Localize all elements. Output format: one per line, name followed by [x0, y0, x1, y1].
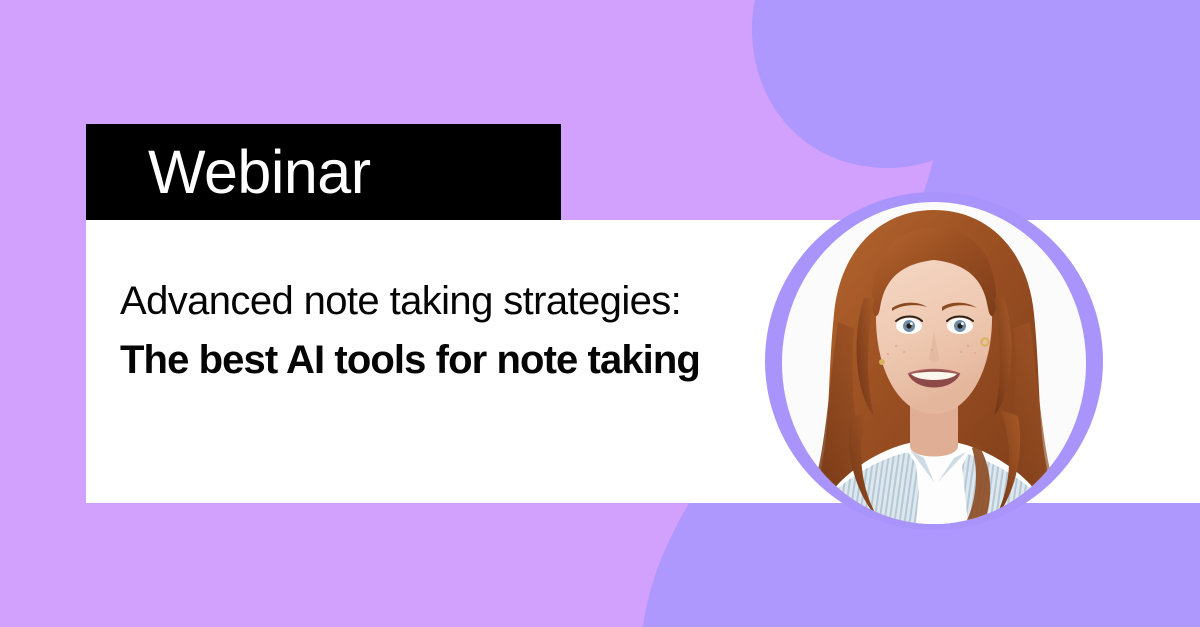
webinar-banner: Webinar Advanced note taking strategies:…	[0, 0, 1200, 627]
category-tag: Webinar	[86, 124, 561, 220]
headline-bold: The best AI tools for note taking	[120, 338, 700, 382]
percent-upper-blob	[752, 0, 1032, 168]
percent-lower-blob	[716, 527, 997, 627]
headline: Advanced note taking strategies: The bes…	[120, 272, 720, 390]
speaker-portrait	[765, 192, 1103, 530]
headline-regular: Advanced note taking strategies:	[120, 279, 681, 323]
portrait-photo-clip	[782, 202, 1086, 524]
portrait-photo	[782, 202, 1086, 524]
category-tag-label: Webinar	[148, 142, 371, 203]
